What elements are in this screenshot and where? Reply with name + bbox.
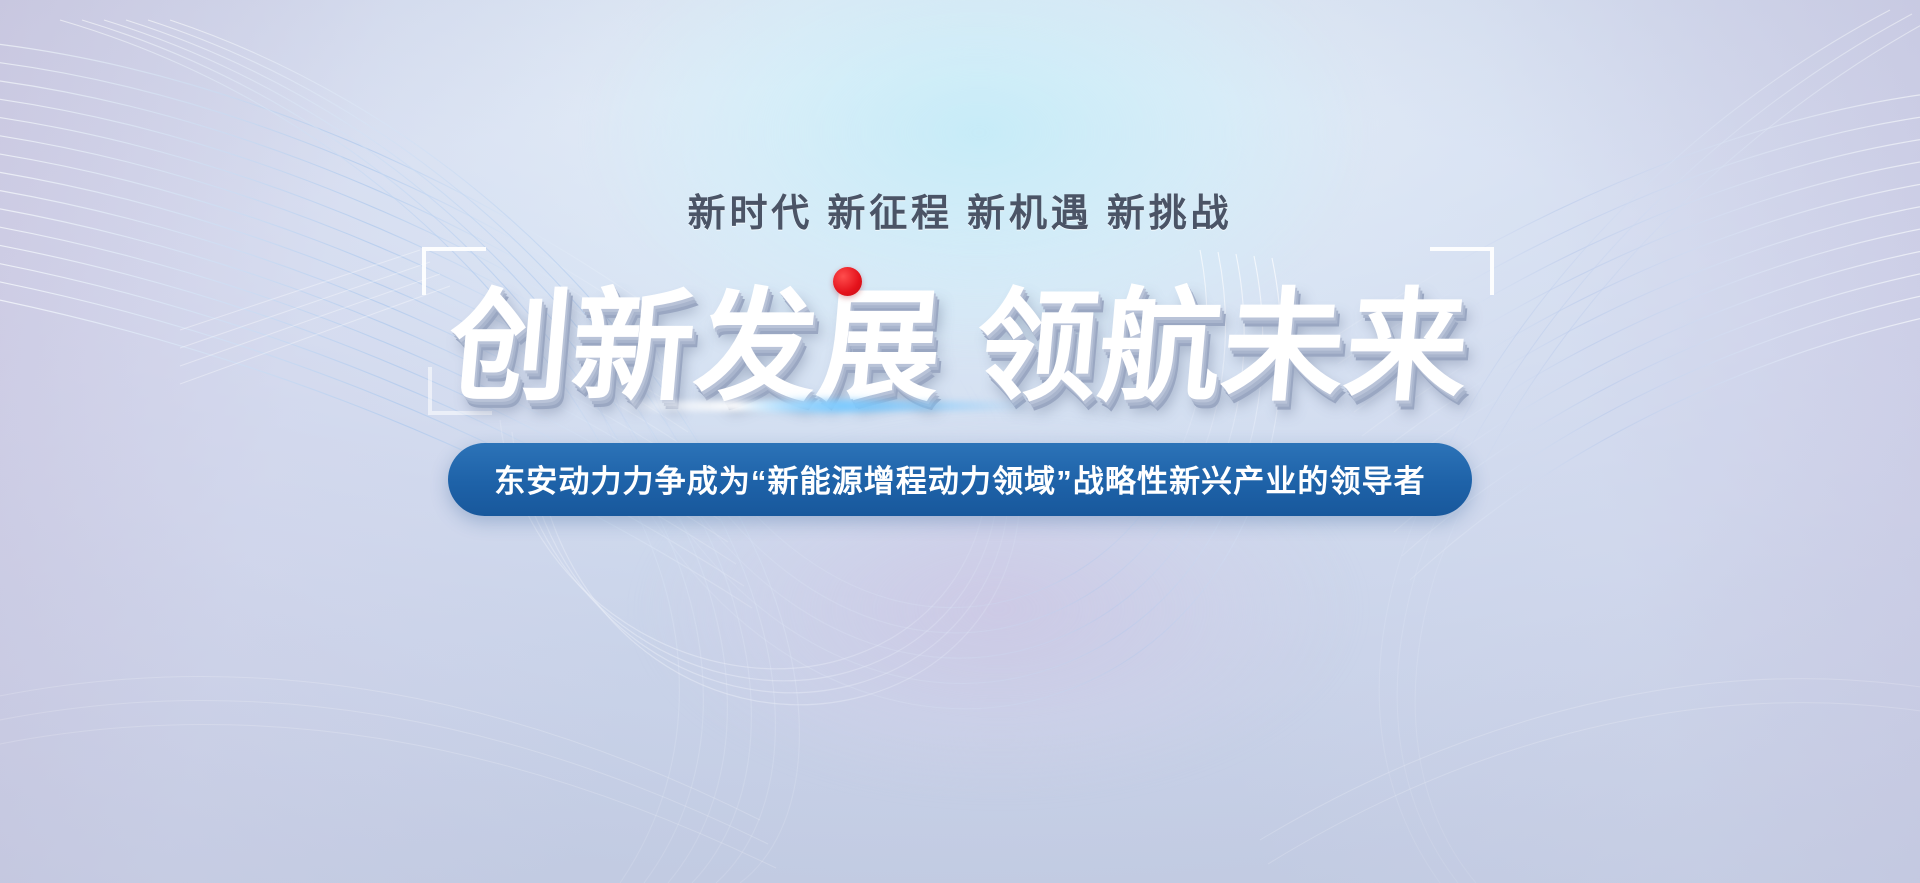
light-glow-icon xyxy=(740,397,920,415)
tagline: 新时代 新征程 新机遇 新挑战 xyxy=(688,182,1233,237)
headline: 创新发展领航未来 xyxy=(442,248,1477,425)
headline-part-1: 创新发展 xyxy=(443,279,948,415)
banner-stage: 新时代 新征程 新机遇 新挑战 创新发展领航未来 东安动力力争成为“新能源增程动… xyxy=(0,0,1920,883)
banner-content: 新时代 新征程 新机遇 新挑战 创新发展领航未来 东安动力力争成为“新能源增程动… xyxy=(0,0,1920,883)
red-dot-icon xyxy=(833,267,862,296)
headline-part-2: 领航未来 xyxy=(970,279,1475,415)
slogan-pill: 东安动力力争成为“新能源增程动力领域”战略性新兴产业的领导者 xyxy=(448,443,1472,516)
headline-group: 创新发展领航未来 xyxy=(410,251,1510,421)
